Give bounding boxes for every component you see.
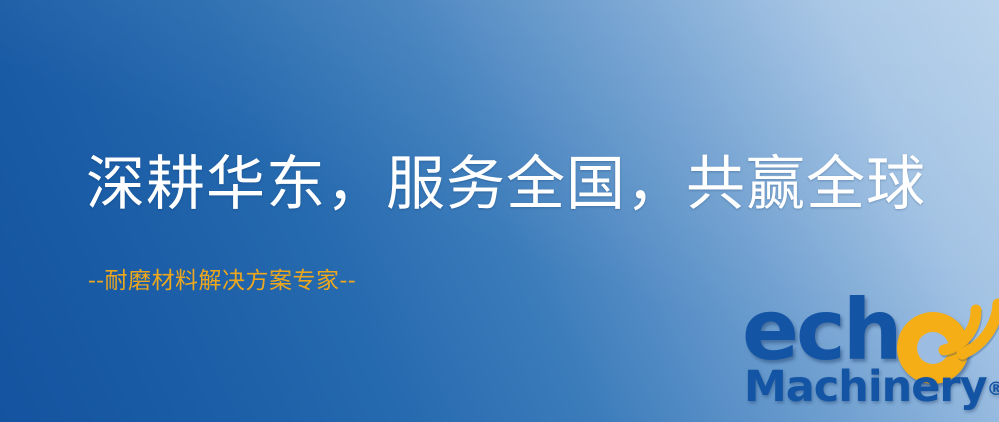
promo-banner: 深耕华东，服务全国，共赢全球 --耐磨材料解决方案专家-- ech Machin…: [0, 0, 999, 422]
logo-company-name: Machinery®: [744, 366, 999, 409]
registered-trademark-icon: ®: [987, 378, 999, 400]
logo-company-text: Machinery: [744, 362, 987, 412]
banner-headline: 深耕华东，服务全国，共赢全球: [86, 152, 926, 216]
banner-subtitle: --耐磨材料解决方案专家--: [88, 268, 356, 296]
logo-wordmark-ech: ech: [742, 288, 900, 372]
echo-machinery-logo: ech Machinery®: [742, 292, 999, 422]
signal-waves-icon: [928, 288, 999, 362]
